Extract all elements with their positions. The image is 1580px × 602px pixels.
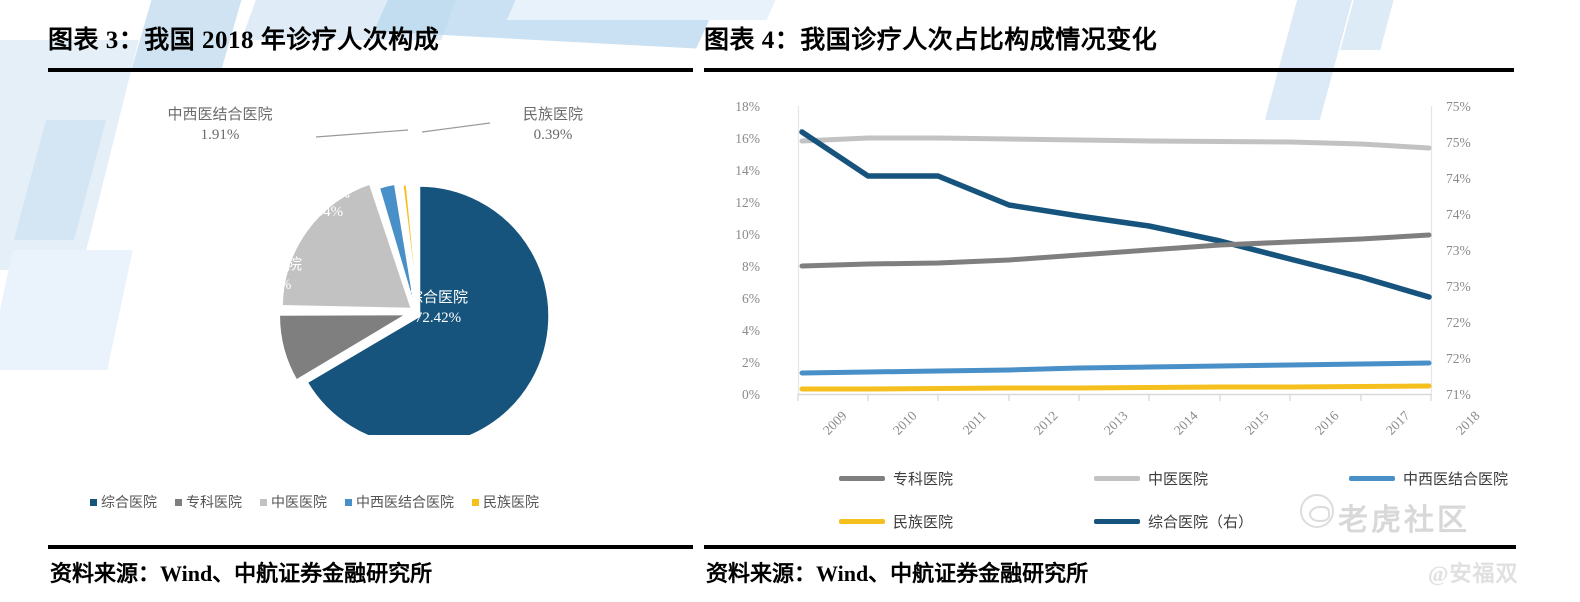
pie-legend: 综合医院 专科医院 中医医院 中西医结合医院 民族医院 [90,492,539,512]
source-note-left: 资料来源：Wind、中航证券金融研究所 [50,556,432,588]
page-title-figure-3: 图表 3：我国 2018 年诊疗人次构成 [48,20,439,56]
leader-line-zhongxiyi [316,130,408,137]
pie-label-minzu-name: 民族医院 [498,105,608,125]
line-chart-legend: 专科医院 中医医院 中西医结合医院 民族医院 综合医院（右） [839,468,1580,532]
pie-label-zhongxiyi-value: 1.91% [145,125,295,145]
figure-panel-left: 图表 3：我国 2018 年诊疗人次构成 中西医结合医院 1.91% [0,0,694,602]
legend-line-swatch-icon [1349,476,1395,481]
divider-top-left [48,68,693,72]
legend-line-swatch-icon [839,519,885,524]
line-series-zonghe-right-axis[interactable] [802,132,1429,297]
legend-swatch-icon [175,499,182,506]
pie-label-zonghe: 综合医院 72.42% [393,288,483,329]
pie-legend-item-zhongxiyi[interactable]: 中西医结合医院 [345,492,454,512]
pie-label-zhuanke-name: 专科医院 [227,255,317,275]
legend-swatch-icon [260,499,267,506]
pie-label-zhongyi-name: 中医医院 [275,182,365,202]
pie-legend-label: 综合医院 [101,492,157,512]
source-note-right: 资料来源：Wind、中航证券金融研究所 [706,556,1088,588]
pie-label-zhongyi-value: 15.34% [275,202,365,222]
pie-label-minzu: 民族医院 0.39% [498,105,608,146]
legend-line-swatch-icon [1094,476,1140,481]
pie-label-minzu-value: 0.39% [498,125,608,145]
line-legend-item-zonghe[interactable]: 综合医院（右） [1094,511,1349,532]
line-chart-plot [694,0,1580,450]
line-legend-item-zhuanke[interactable]: 专科医院 [839,468,1094,489]
line-legend-item-zhongxiyi[interactable]: 中西医结合医院 [1349,468,1580,489]
line-legend-item-minzu[interactable]: 民族医院 [839,511,1094,532]
line-legend-label: 中医医院 [1148,468,1208,489]
line-legend-item-zhongyi[interactable]: 中医医院 [1094,468,1349,489]
pie-label-zonghe-name: 综合医院 [393,288,483,308]
line-series-zhongyi[interactable] [802,138,1429,148]
line-series-zhuanke[interactable] [802,235,1429,266]
pie-label-zhongyi: 中医医院 15.34% [275,182,365,223]
pie-label-zhongxiyi-name: 中西医结合医院 [145,105,295,125]
line-series-zhongxiyi[interactable] [802,363,1429,373]
leader-line-minzu [422,123,490,132]
pie-legend-item-zonghe[interactable]: 综合医院 [90,492,157,512]
line-legend-label: 民族医院 [893,511,953,532]
pie-legend-label: 民族医院 [483,492,539,512]
figure-panel-right: 图表 4：我国诊疗人次占比构成情况变化 18% 16% 14% 12% 10% … [694,0,1580,602]
pie-legend-label: 中西医结合医院 [356,492,454,512]
legend-swatch-icon [345,499,352,506]
divider-bottom-left [48,545,693,549]
line-series-minzu[interactable] [802,386,1429,389]
legend-swatch-icon [90,499,97,506]
pie-legend-item-minzu[interactable]: 民族医院 [472,492,539,512]
legend-swatch-icon [472,499,479,506]
pie-legend-item-zhuanke[interactable]: 专科医院 [175,492,242,512]
pie-legend-label: 专科医院 [186,492,242,512]
line-legend-label: 专科医院 [893,468,953,489]
pie-label-zonghe-value: 72.42% [393,308,483,328]
pie-label-zhuanke-value: 9.94% [227,275,317,295]
pie-label-zhuanke: 专科医院 9.94% [227,255,317,296]
pie-legend-item-zhongyi[interactable]: 中医医院 [260,492,327,512]
line-legend-label: 综合医院（右） [1148,511,1253,532]
divider-bottom-right [704,545,1516,549]
legend-line-swatch-icon [839,476,885,481]
pie-legend-label: 中医医院 [271,492,327,512]
pie-label-zhongxiyi: 中西医结合医院 1.91% [145,105,295,146]
line-legend-label: 中西医结合医院 [1403,468,1508,489]
legend-line-swatch-icon [1094,519,1140,524]
